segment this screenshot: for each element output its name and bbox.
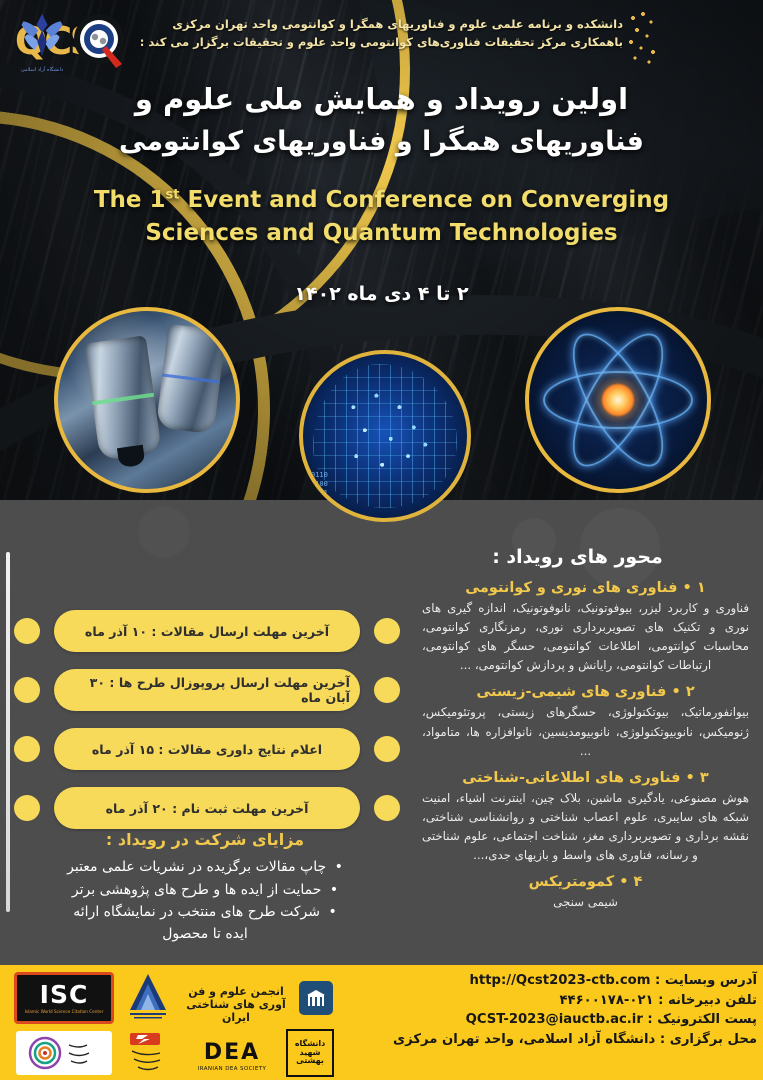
- topic-number: ۳: [700, 770, 709, 786]
- persian-title-line-2: فناوریهای همگرا و فناوریهای کوانتومی: [0, 122, 763, 163]
- atom-nucleus: [601, 383, 635, 417]
- conference-poster: QCST دانشکده و برنامه علمی علوم و فناوری…: [0, 0, 763, 1080]
- english-title-prefix: The 1: [94, 187, 166, 213]
- topic-title: ۲ • فناوری های شیمی-زیستی: [422, 684, 749, 700]
- topic-item: ۱ • فناوری های نوری و کوانتومی فناوری و …: [412, 580, 757, 675]
- microscope-objectives-image: [54, 307, 240, 493]
- topic-title-text: • کمومتریکس: [529, 874, 629, 890]
- topic-number: ۴: [634, 874, 643, 890]
- topics-heading: محور های رویداد :: [412, 546, 749, 568]
- concentric-rings-icon: [19, 1033, 109, 1073]
- topic-title: ۱ • فناوری های نوری و کوانتومی: [422, 580, 749, 596]
- pill-dot-right: [374, 736, 400, 762]
- benefit-item: • حمایت از ایده ها و طرح های پژوهشی برتر: [10, 879, 400, 902]
- benefits-heading: مزایای شرکت در رویداد :: [10, 830, 400, 849]
- poster-header: QCST دانشکده و برنامه علمی علوم و فناوری…: [0, 0, 763, 92]
- isc-logo-subtitle: Islamic World Science Citation Center: [25, 1009, 104, 1014]
- topic-body: شیمی سنجی: [422, 893, 749, 912]
- dea-society-logo: DEA IRANIAN DEA SOCIETY: [184, 1037, 280, 1077]
- deadline-row: آخرین مهلت ارسال پروپوزال طرح ها : ۳۰ آب…: [8, 669, 406, 717]
- topic-title-text: • فناوری های اطلاعاتی-شناختی: [462, 770, 695, 786]
- topic-title: ۳ • فناوری های اطلاعاتی-شناختی: [422, 770, 749, 786]
- dea-logo-subtitle: IRANIAN DEA SOCIETY: [198, 1066, 267, 1072]
- email-line[interactable]: پست الکترونیک : QCST-2023@iauctb.ac.ir: [337, 1010, 757, 1030]
- microscope-lens-back: [156, 324, 226, 434]
- isc-logo: ISC Islamic World Science Citation Cente…: [14, 972, 114, 1024]
- benefit-text: چاپ مقالات برگزیده در نشریات علمی معتبر: [67, 859, 326, 875]
- english-title-line-1: The 1st Event and Conference on Convergi…: [0, 184, 763, 217]
- deadlines-section: آخرین مهلت ارسال مقالات : ۱۰ آذر ماه آخر…: [8, 610, 406, 846]
- topics-section: محور های رویداد : ۱ • فناوری های نوری و …: [412, 546, 757, 921]
- isc-logo-title: ISC: [40, 982, 89, 1007]
- event-date: ۲ تا ۴ دی ماه ۱۴۰۲: [0, 283, 763, 305]
- topic-body: هوش مصنوعی، یادگیری ماشین، بلاک چین، این…: [422, 789, 749, 865]
- website-line[interactable]: آدرس وبسایت : http://Qcst2023-ctb.com: [337, 971, 757, 991]
- english-title-line-2: Sciences and Quantum Technologies: [0, 217, 763, 250]
- pixel-dissolve-icon: [629, 12, 663, 64]
- pill-dot-left: [14, 736, 40, 762]
- quantum-center-logo: [72, 12, 130, 70]
- bullet-icon: •: [335, 859, 343, 875]
- shahid-beheshti-university-logo: دانشگاه شهید بهشتی: [286, 1029, 334, 1077]
- pill-dot-left: [14, 795, 40, 821]
- bullet-icon: •: [328, 904, 336, 920]
- topic-number: ۱: [697, 580, 706, 596]
- host-line-1: دانشکده و برنامه علمی علوم و فناوریهای ه…: [123, 16, 623, 34]
- footer-logos: ISC Islamic World Science Citation Cente…: [4, 967, 334, 1079]
- deadline-pill: آخرین مهلت ارسال پروپوزال طرح ها : ۳۰ آب…: [54, 669, 360, 711]
- pill-dot-left: [14, 677, 40, 703]
- topic-title-text: • فناوری های شیمی-زیستی: [476, 684, 680, 700]
- sbu-logo-label: دانشگاه شهید بهشتی: [288, 1040, 332, 1066]
- topic-item: ۴ • کمومتریکس شیمی سنجی: [412, 874, 757, 912]
- deadline-pill: آخرین مهلت ثبت نام : ۲۰ آذر ماه: [54, 787, 360, 829]
- circuit-brain-image: 0110010010011001: [299, 350, 471, 522]
- research-institute-logo: [16, 1031, 112, 1075]
- topic-body: فناوری و کاربرد لیزر، بیوفوتونیک، نانوفو…: [422, 599, 749, 675]
- english-title-rest: Event and Conference on Converging: [188, 187, 670, 213]
- benefits-section: مزایای شرکت در رویداد : • چاپ مقالات برگ…: [10, 830, 400, 945]
- deadline-row: آخرین مهلت ارسال مقالات : ۱۰ آذر ماه: [8, 610, 406, 658]
- cognitive-society-logo: [122, 970, 174, 1026]
- deadline-pill: آخرین مهلت ارسال مقالات : ۱۰ آذر ماه: [54, 610, 360, 652]
- topic-item: ۳ • فناوری های اطلاعاتی-شناختی هوش مصنوع…: [412, 770, 757, 865]
- phone-line: تلفن دبیرخانه : ۰۲۱-۴۴۶۰۰۱۷۸: [337, 991, 757, 1011]
- cognitive-society-icon: [122, 970, 174, 1026]
- deadline-pill: اعلام نتایج داوری مقالات : ۱۵ آذر ماه: [54, 728, 360, 770]
- poster-body: محور های رویداد : ۱ • فناوری های نوری و …: [0, 500, 763, 965]
- contact-info: آدرس وبسایت : http://Qcst2023-ctb.com تل…: [337, 971, 757, 1049]
- q-emblem-icon: [72, 12, 130, 70]
- research-park-icon: [122, 1029, 178, 1077]
- benefit-item: • چاپ مقالات برگزیده در نشریات علمی معتب…: [10, 856, 400, 879]
- venue-line: محل برگزاری : دانشگاه آزاد اسلامی، واحد …: [337, 1030, 757, 1050]
- dea-logo-title: DEA: [204, 1042, 260, 1064]
- benefits-list: • چاپ مقالات برگزیده در نشریات علمی معتب…: [10, 856, 400, 924]
- pill-dot-right: [374, 795, 400, 821]
- bullet-icon: •: [330, 882, 338, 898]
- pill-dot-right: [374, 677, 400, 703]
- azad-wings-icon: [16, 8, 68, 66]
- host-line-2: باهمکاری مرکز تحقیقات فناوری‌های کوانتوم…: [123, 34, 623, 52]
- atom-image: [525, 307, 711, 493]
- azad-logo-caption: دانشگاه آزاد اسلامی: [21, 67, 63, 73]
- topic-title-text: • فناوری های نوری و کوانتومی: [465, 580, 692, 596]
- poster-footer: آدرس وبسایت : http://Qcst2023-ctb.com تل…: [0, 965, 763, 1080]
- background-circle-decoration: [138, 506, 190, 558]
- microscope-lens-front: [84, 335, 162, 460]
- english-title: The 1st Event and Conference on Convergi…: [0, 184, 763, 251]
- cognitive-society-label: انجمن علوم و فن آوری های شناختی ایران: [176, 985, 296, 1024]
- ordinal-suffix: st: [166, 187, 180, 202]
- host-organizations: دانشکده و برنامه علمی علوم و فناوریهای ه…: [123, 16, 623, 52]
- azad-university-logo: دانشگاه آزاد اسلامی: [14, 8, 70, 82]
- research-park-logo: [122, 1029, 178, 1077]
- benefit-item: • شرکت طرح های منتخب در نمایشگاه ارائه: [10, 901, 400, 924]
- deadline-row: اعلام نتایج داوری مقالات : ۱۵ آذر ماه: [8, 728, 406, 776]
- topic-body: بیوانفورماتیک، بیوتکنولوژی، حسگرهای زیست…: [422, 703, 749, 760]
- deadline-row: آخرین مهلت ثبت نام : ۲۰ آذر ماه: [8, 787, 406, 835]
- pill-dot-left: [14, 618, 40, 644]
- benefit-text: حمایت از ایده ها و طرح های پژوهشی برتر: [72, 882, 321, 898]
- brain-circuit-icon: [313, 364, 457, 508]
- benefits-tail: ایده تا محصول: [10, 924, 400, 945]
- pill-dot-right: [374, 618, 400, 644]
- binary-code-text: 0110010010011001: [311, 471, 328, 506]
- topic-title: ۴ • کمومتریکس: [422, 874, 749, 890]
- topic-item: ۲ • فناوری های شیمی-زیستی بیوانفورماتیک،…: [412, 684, 757, 760]
- benefit-text: شرکت طرح های منتخب در نمایشگاه ارائه: [73, 904, 320, 920]
- topic-number: ۲: [686, 684, 695, 700]
